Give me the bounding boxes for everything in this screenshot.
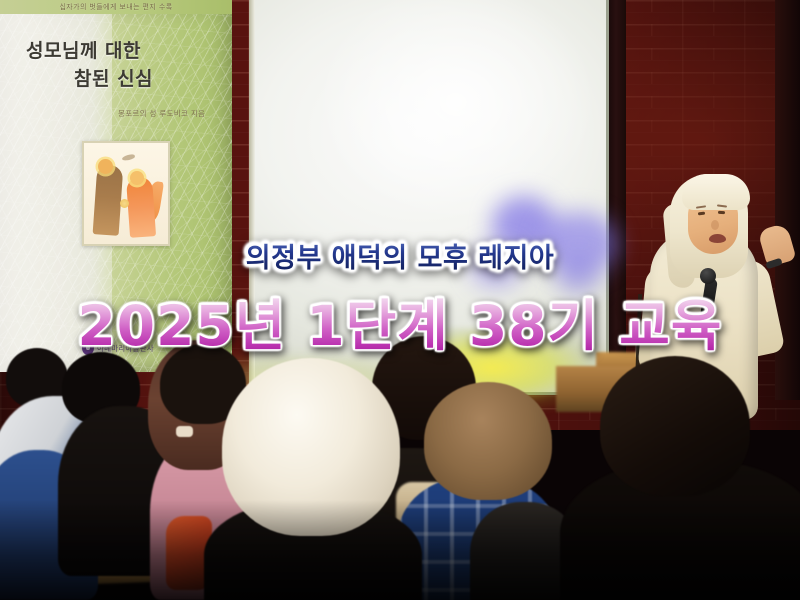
lily-flower-icon xyxy=(120,199,129,208)
nun-coif-cap xyxy=(682,174,750,210)
book-cover-poster: 십자가의 벗들에게 보내는 편지 수록 성모님께 대한 참된 신심 몽포르의 성… xyxy=(0,0,232,372)
nun-nose xyxy=(711,220,719,230)
poster-banner: 십자가의 벗들에게 보내는 편지 수록 xyxy=(0,0,232,14)
bottom-vignette xyxy=(0,500,800,600)
audience-head-balding xyxy=(424,382,552,500)
projected-blur-blob xyxy=(556,258,600,296)
virgin-mary-halo xyxy=(98,159,113,174)
angel-halo xyxy=(130,171,144,185)
poster-banner-text: 십자가의 벗들에게 보내는 편지 수록 xyxy=(59,2,172,12)
poster-title-line1: 성모님께 대한 xyxy=(26,40,141,62)
projected-blur-blob xyxy=(470,244,522,288)
dove-icon xyxy=(122,154,136,162)
virgin-mary-figure xyxy=(93,164,124,236)
poster-title-line2: 참된 신심 xyxy=(26,66,216,94)
lecture-hall-scene: 십자가의 벗들에게 보내는 편지 수록 성모님께 대한 참된 신심 몽포르의 성… xyxy=(0,0,800,600)
angel-figure xyxy=(126,176,156,238)
poster-title: 성모님께 대한 참된 신심 xyxy=(26,38,216,93)
annunciation-illustration xyxy=(82,141,170,246)
poster-author: 몽포르의 성 루도비코 지음 xyxy=(118,108,228,119)
nun-eye-right xyxy=(718,211,725,215)
audience-head-foreground xyxy=(600,356,750,496)
hair-clip xyxy=(176,426,193,437)
nun-mouth xyxy=(709,234,726,243)
video-frame: 십자가의 벗들에게 보내는 편지 수록 성모님께 대한 참된 신심 몽포르의 성… xyxy=(0,0,800,600)
